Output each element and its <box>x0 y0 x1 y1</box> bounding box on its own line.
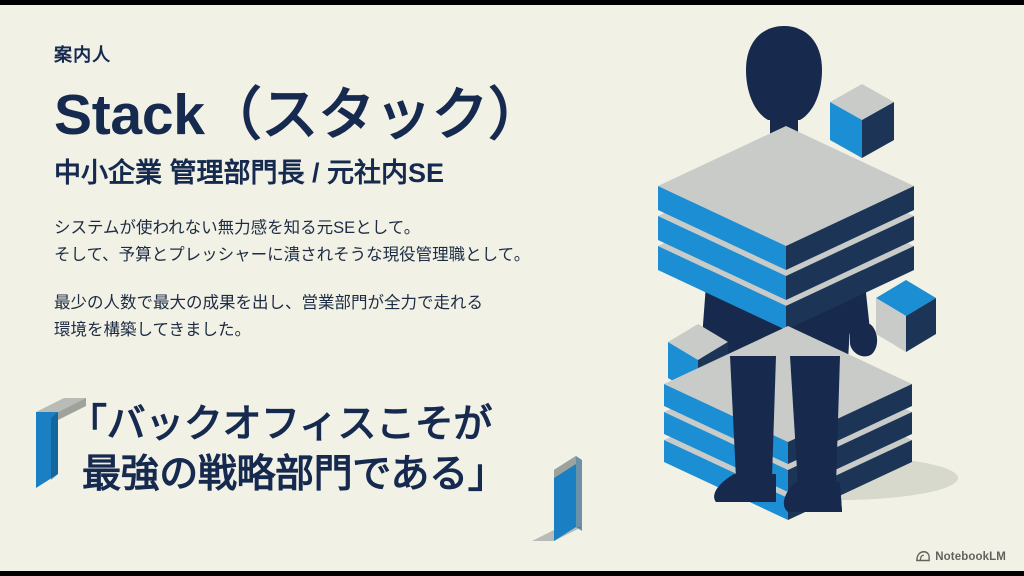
notebooklm-watermark: NotebookLM <box>916 550 1006 564</box>
slide-root: 案内人 Stack（スタック） 中小企業 管理部門長 / 元社内SE システムが… <box>0 0 1024 576</box>
eyebrow-label: 案内人 <box>54 46 674 64</box>
page-title: Stack（スタック） <box>54 86 674 145</box>
letterbox-top-bar <box>0 0 1024 5</box>
body-text-block: システムが使われない無力感を知る元SEとして。 そして、予算とプレッシャーに潰さ… <box>54 215 674 344</box>
quote-text-content: 「バックオフィスこそが 最強の戦略部門である」 <box>68 400 506 499</box>
quote-line-2: 最強の戦略部門である」 <box>82 450 506 500</box>
watermark-label: NotebookLM <box>935 551 1006 563</box>
role-subtitle: 中小企業 管理部門長 / 元社内SE <box>54 159 674 189</box>
body-paragraph-2-line-1: 最少の人数で最大の成果を出し、営業部門が全力で走れる <box>54 290 674 317</box>
businessman-stack-illustration <box>638 8 1018 568</box>
quote-line-1: 「バックオフィスこそが <box>68 403 492 446</box>
quote-close-bracket-icon <box>532 456 582 541</box>
paragraph-spacer <box>54 268 674 290</box>
body-paragraph-1-line-1: システムが使われない無力感を知る元SEとして。 <box>54 215 674 242</box>
body-paragraph-1-line-2: そして、予算とプレッシャーに潰されそうな現役管理職として。 <box>54 242 674 269</box>
cube-mid-right-icon <box>876 280 936 352</box>
text-column: 案内人 Stack（スタック） 中小企業 管理部門長 / 元社内SE システムが… <box>54 46 674 344</box>
body-paragraph-2-line-2: 環境を構築してきました。 <box>54 317 674 344</box>
pull-quote: 「バックオフィスこそが 最強の戦略部門である」 <box>30 398 630 548</box>
notebooklm-icon <box>916 550 930 564</box>
letterbox-bottom-bar <box>0 571 1024 576</box>
cube-upper-right-icon <box>830 84 894 158</box>
